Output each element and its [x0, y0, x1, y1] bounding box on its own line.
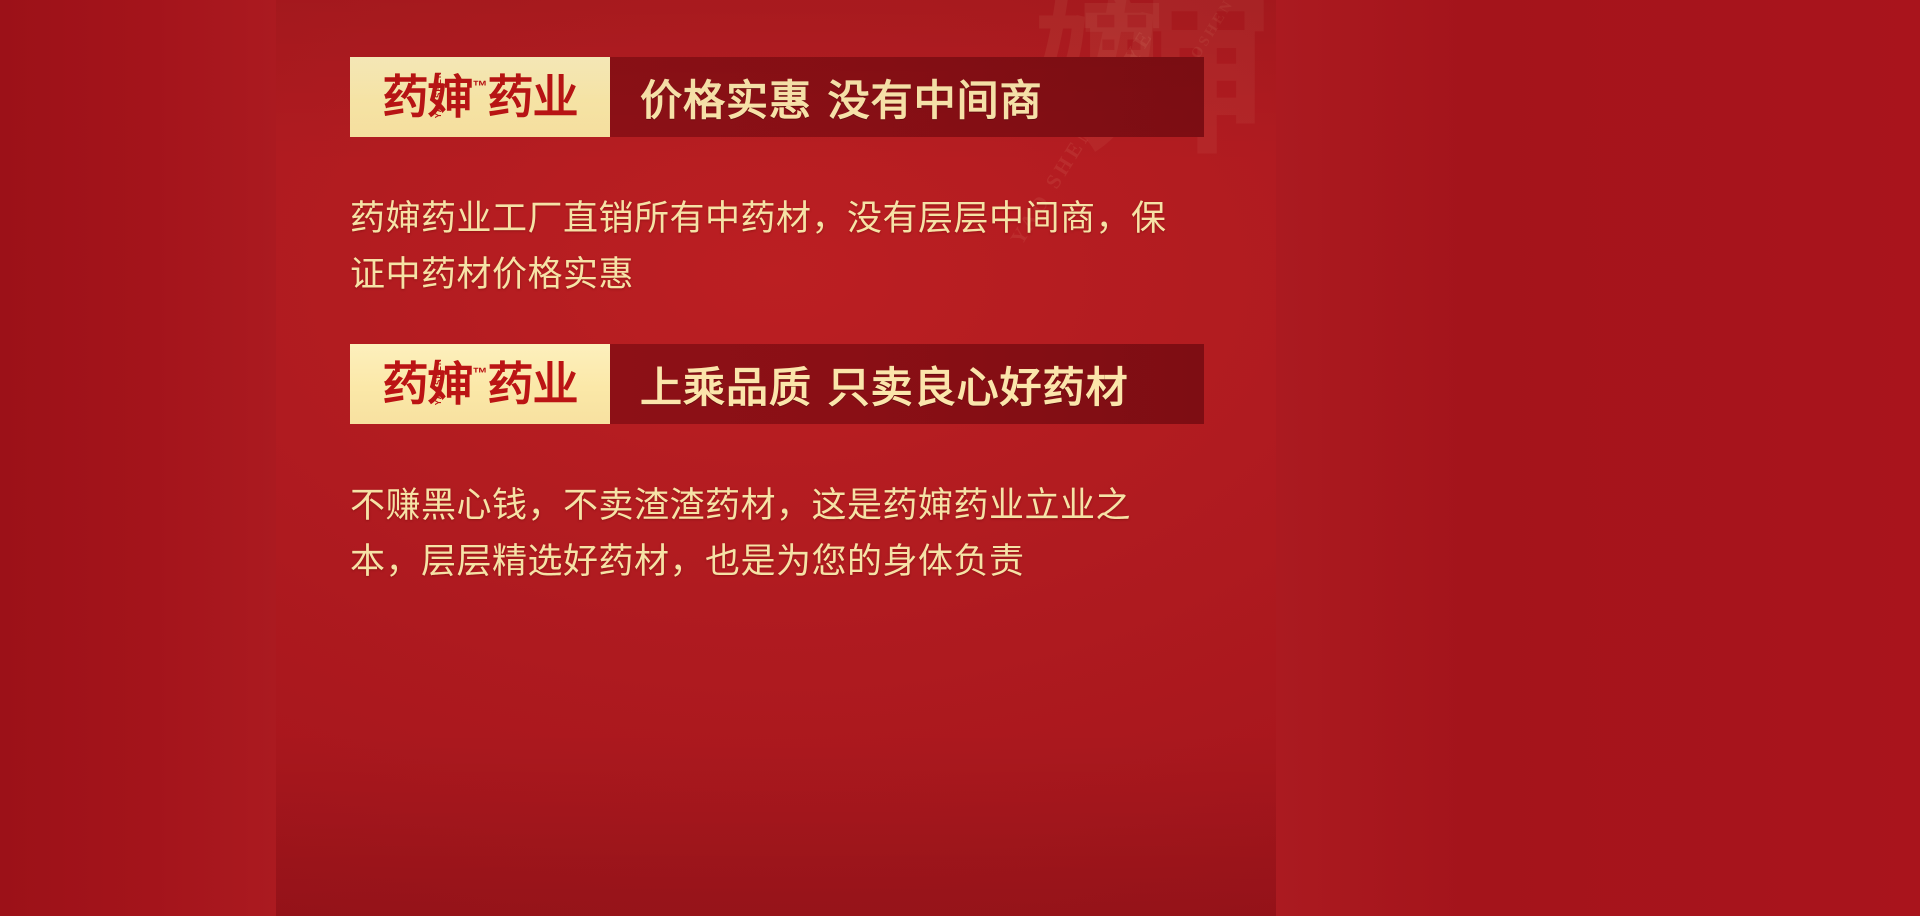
brand-pinyin-vertical: YAOSHEN	[435, 71, 443, 118]
right-margin-strip	[1276, 0, 1920, 916]
brand-badge: 药婶 ™ 药业 YAOSHEN	[350, 57, 610, 137]
brand-badge-lockup: 药婶 ™ 药业 YAOSHEN	[383, 74, 578, 120]
brand-mark-left: 药婶	[383, 361, 473, 407]
section-price: 药婶 ™ 药业 YAOSHEN 价格实惠 没有中间商	[350, 57, 1204, 137]
brand-badge: 药婶 ™ 药业 YAOSHEN	[350, 344, 610, 424]
section-price-headline-band: 价格实惠 没有中间商	[610, 57, 1204, 137]
content-panel: 婶 婶 YAO SHEN YAO YE YAOSHEN 药婶 ™ 药业 YAOS…	[276, 0, 1276, 916]
section-price-body: 药婶药业工厂直销所有中药材，没有层层中间商，保证中药材价格实惠	[350, 191, 1180, 303]
brand-mark-right: 药业	[488, 361, 578, 407]
section-quality-body: 不赚黑心钱，不卖渣渣药材，这是药婶药业立业之本，层层精选好药材，也是为您的身体负…	[350, 478, 1180, 590]
section-quality: 药婶 ™ 药业 YAOSHEN 上乘品质 只卖良心好药材	[350, 344, 1204, 424]
trademark-icon: ™	[473, 79, 488, 94]
section-price-header: 药婶 ™ 药业 YAOSHEN 价格实惠 没有中间商	[350, 57, 1204, 137]
section-quality-header: 药婶 ™ 药业 YAOSHEN 上乘品质 只卖良心好药材	[350, 344, 1204, 424]
brand-pinyin-vertical: YAOSHEN	[435, 358, 443, 405]
trademark-icon: ™	[473, 366, 488, 381]
brand-badge-lockup: 药婶 ™ 药业 YAOSHEN	[383, 361, 578, 407]
section-price-headline: 价格实惠 没有中间商	[640, 67, 1043, 128]
promo-banner: 婶 婶 YAO SHEN YAO YE YAOSHEN 药婶 ™ 药业 YAOS…	[0, 0, 1920, 916]
brand-mark-right: 药业	[488, 74, 578, 120]
brand-mark-left: 药婶	[383, 74, 473, 120]
left-margin-strip	[0, 0, 276, 916]
section-quality-headline: 上乘品质 只卖良心好药材	[640, 354, 1129, 415]
section-quality-headline-band: 上乘品质 只卖良心好药材	[610, 344, 1204, 424]
